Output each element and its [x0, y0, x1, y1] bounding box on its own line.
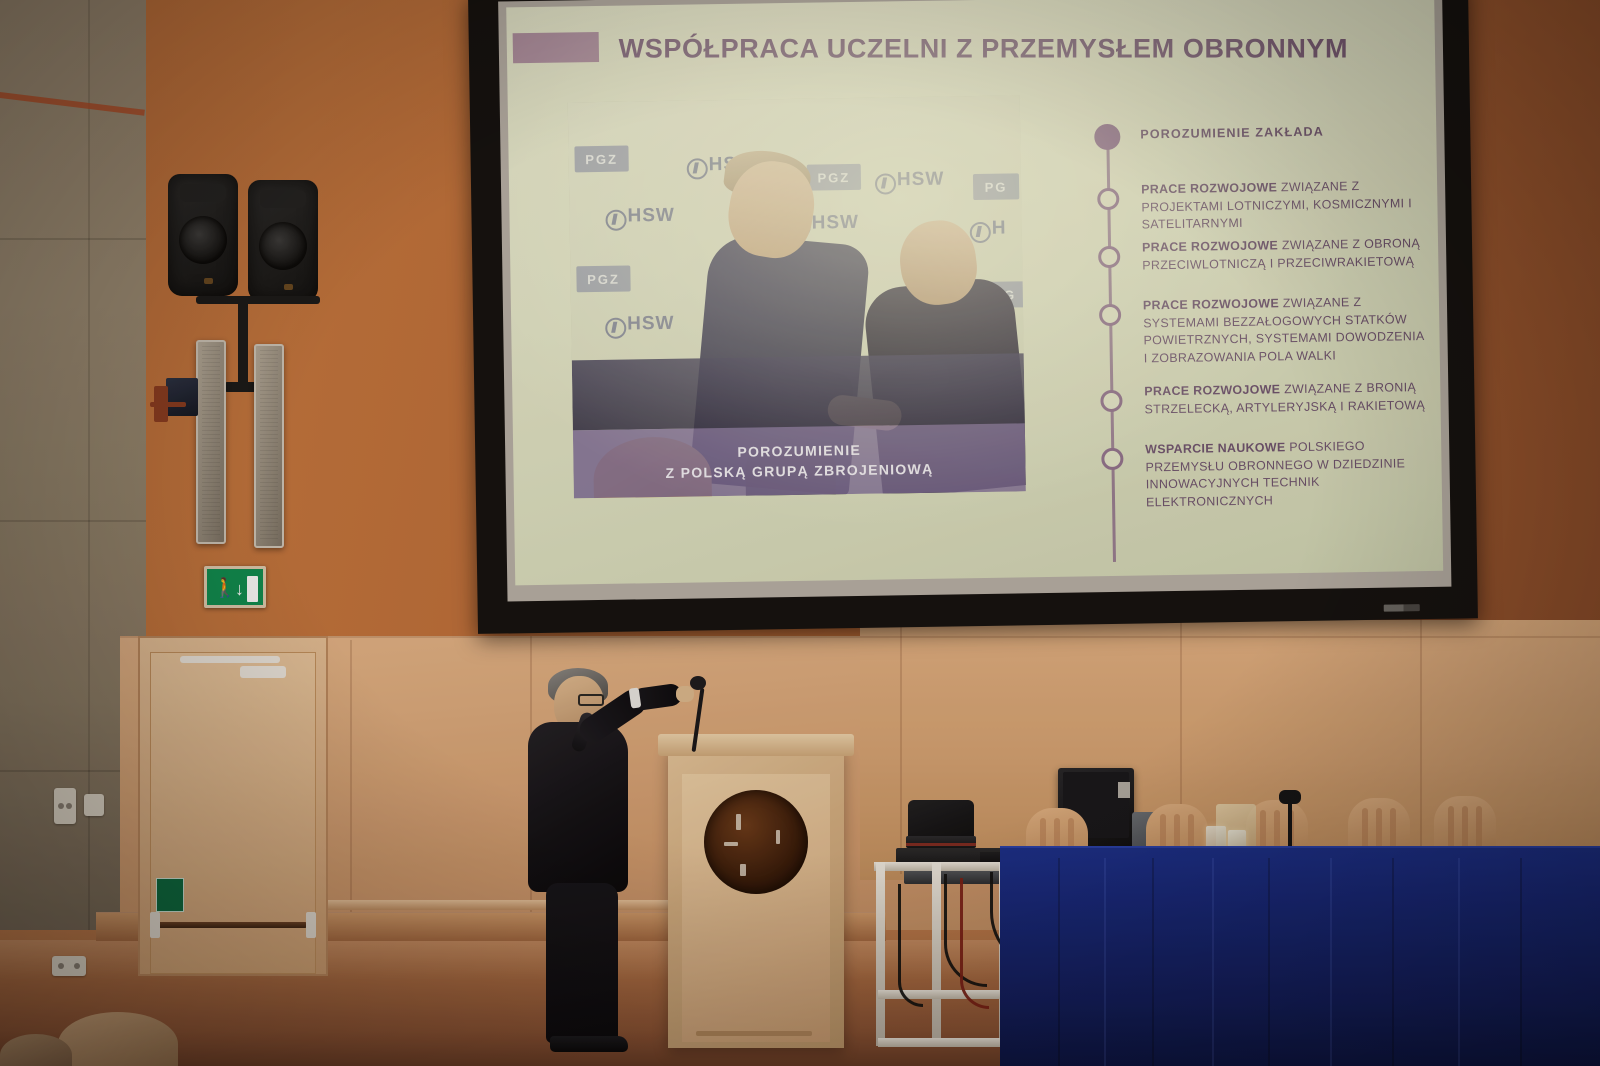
presenter-shoes — [550, 1036, 628, 1052]
timeline-dot — [1099, 304, 1121, 326]
lectern — [668, 748, 844, 1048]
panic-push-bar[interactable] — [156, 922, 308, 928]
timeline-item-lead: PRACE ROZWOJOWE — [1143, 296, 1279, 312]
logo-pgz: PGZ — [574, 145, 628, 172]
column-speaker-left — [196, 340, 226, 544]
presidium-table — [1000, 848, 1600, 1066]
cable — [960, 878, 989, 1009]
lectern-top — [658, 734, 854, 756]
photo-table — [572, 353, 1025, 430]
slide-photo: PGZ PGZ PGZ PGZ PG PG HSW HSW HSW HSW H — [568, 95, 1026, 498]
door-notice-sign — [156, 878, 184, 912]
table-microphone[interactable] — [1288, 798, 1292, 850]
pa-speaker-right — [248, 180, 318, 302]
wall-bracket — [150, 402, 186, 407]
exit-door-icon — [247, 576, 258, 602]
wall-transmitter-box — [166, 378, 198, 416]
pa-speaker-left — [168, 174, 238, 296]
speaker-mount-pole — [238, 300, 248, 386]
timeline-dot — [1098, 246, 1120, 268]
timeline-dot — [1097, 188, 1119, 210]
push-bar-mount — [306, 912, 316, 938]
institution-emblem — [704, 790, 808, 894]
logo-hsw: HSW — [897, 169, 945, 192]
timeline-item: PRACE ROZWOJOWE ZWIĄZANE Z OBRONĄ PRZECI… — [1142, 235, 1429, 275]
wall-plate — [84, 794, 104, 816]
push-bar-mount — [150, 912, 160, 938]
glasses-icon — [578, 694, 604, 706]
screen-brand-label — [1384, 604, 1420, 612]
timeline-heading: POROZUMIENIE ZAKŁADA — [1140, 125, 1324, 142]
photo-caption: POROZUMIENIE Z POLSKĄ GRUPĄ ZBROJENIOWĄ — [573, 423, 1026, 498]
logo-pgz: PGZ — [576, 265, 630, 292]
timeline-item-lead: WSPARCIE NAUKOWE — [1145, 440, 1285, 456]
logo-hsw: HSW — [627, 205, 675, 228]
logo-pgz: PGZ — [807, 164, 861, 191]
timeline-item-lead: PRACE ROZWOJOWE — [1142, 238, 1278, 254]
logo-hsw: HSW — [627, 313, 675, 336]
logo-hsw: HSW — [811, 212, 859, 235]
timeline-item: WSPARCIE NAUKOWE POLSKIEGO PRZEMYSŁU OBR… — [1145, 437, 1432, 512]
timeline-item: PRACE ROZWOJOWE ZWIĄZANE Z SYSTEMAMI BEZ… — [1143, 293, 1430, 368]
presenter-hand — [676, 686, 694, 702]
emergency-exit-sign: 🚶 ↓ — [204, 566, 266, 608]
column-speaker-right — [254, 344, 284, 548]
monitor-label — [1118, 782, 1130, 798]
timeline-item-lead: PRACE ROZWOJOWE — [1144, 382, 1280, 398]
timeline-item: PRACE ROZWOJOWE ZWIĄZANE Z BRONIĄ STRZEL… — [1144, 379, 1431, 419]
microphone-head-icon — [690, 676, 706, 690]
wall-outlet[interactable] — [52, 956, 86, 976]
timeline-item: PRACE ROZWOJOWE ZWIĄZANE Z PROJEKTAMI LO… — [1141, 177, 1428, 234]
presentation-slide: WSPÓŁPRACA UCZELNI Z PRZEMYSŁEM OBRONNYM… — [506, 0, 1443, 585]
logo-hsw: H — [992, 218, 1007, 240]
speaker-mount-bar — [196, 296, 320, 304]
wall-outlet[interactable] — [54, 788, 76, 824]
lectern-detail — [696, 1031, 812, 1036]
door-closer — [180, 656, 280, 663]
projection-screen: WSPÓŁPRACA UCZELNI Z PRZEMYSŁEM OBRONNYM… — [468, 0, 1478, 634]
photo-caption-line2: Z POLSKĄ GRUPĄ ZBROJENIOWĄ — [665, 459, 933, 484]
timeline-dot — [1101, 448, 1123, 470]
emergency-exit-door[interactable] — [138, 636, 328, 976]
timeline-dot — [1100, 390, 1122, 412]
timeline-item-lead: PRACE ROZWOJOWE — [1141, 180, 1277, 196]
arrow-down-icon: ↓ — [235, 579, 244, 599]
cable — [898, 884, 923, 1007]
title-accent-bar — [513, 32, 599, 63]
running-person-icon: 🚶 — [213, 577, 231, 601]
auditorium-scene: WSPÓŁPRACA UCZELNI Z PRZEMYSŁEM OBRONNYM… — [0, 0, 1600, 1066]
timeline-dot-filled — [1094, 124, 1120, 150]
photo-caption-line1: POROZUMIENIE — [737, 440, 861, 462]
screen-surface: WSPÓŁPRACA UCZELNI Z PRZEMYSŁEM OBRONNYM… — [498, 0, 1451, 601]
presenter-legs — [546, 883, 618, 1043]
door-closer-arm — [240, 666, 286, 678]
slide-timeline: POROZUMIENIE ZAKŁADA PRACE ROZWOJOWE ZWI… — [1086, 97, 1423, 542]
mixer-accent — [906, 843, 976, 846]
presenter — [520, 668, 670, 1066]
mixer-body — [906, 836, 976, 848]
logo-pgz: PG — [973, 173, 1019, 200]
slide-title: WSPÓŁPRACA UCZELNI Z PRZEMYSŁEM OBRONNYM — [619, 34, 1379, 65]
